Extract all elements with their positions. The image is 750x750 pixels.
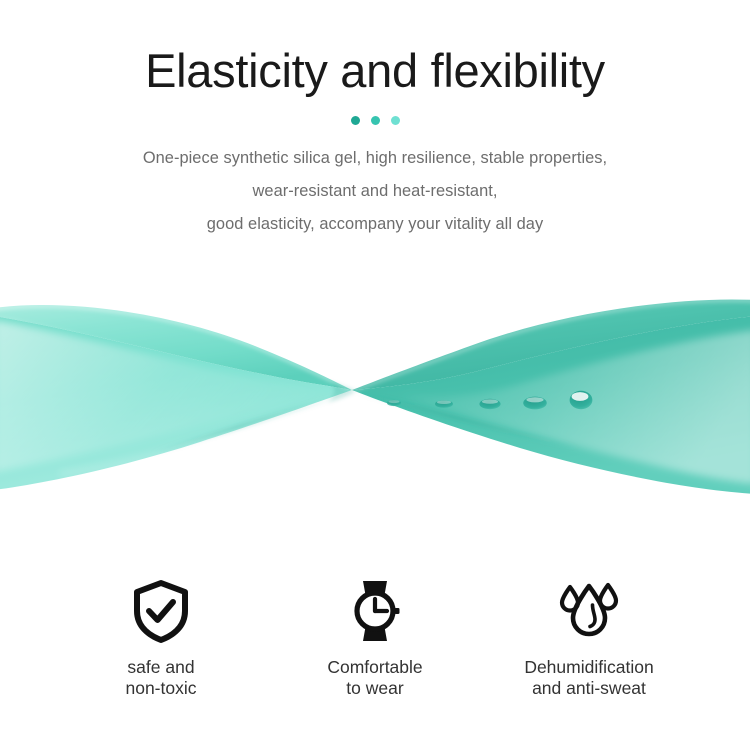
dot-2-icon [371,116,380,125]
wristwatch-icon [342,578,408,644]
adjustment-hole-3 [479,399,500,409]
feature-label-dehumidification: Dehumidification and anti-sweat [524,657,653,699]
subcopy-line-2: wear-resistant and heat-resistant, [0,175,750,208]
page-title: Elasticity and flexibility [0,0,750,97]
adjustment-hole-1 [387,400,401,406]
subcopy-line-3: good elasticity, accompany your vitality… [0,208,750,241]
subcopy: One-piece synthetic silica gel, high res… [0,142,750,241]
feature-label-safe-non-toxic: safe and non-toxic [125,657,196,699]
adjustment-hole-4 [523,397,547,410]
feature-label-comfortable-to-wear: Comfortable to wear [327,657,422,699]
shield-check-icon [128,578,194,644]
feature-row: safe and non-toxic [0,578,750,699]
header-block: Elasticity and flexibility One-piece syn… [0,0,750,241]
decorative-dots [0,116,750,125]
dot-1-icon [351,116,360,125]
feature-safe-non-toxic: safe and non-toxic [54,578,268,699]
feature-comfortable-to-wear: Comfortable to wear [268,578,482,699]
adjustment-hole-2 [435,400,453,408]
feature-dehumidification: Dehumidification and anti-sweat [482,578,696,699]
product-photo [0,268,750,528]
adjustment-hole-5 [570,391,593,409]
subcopy-line-1: One-piece synthetic silica gel, high res… [0,142,750,175]
product-feature-page: Elasticity and flexibility One-piece syn… [0,0,750,750]
water-droplets-icon [553,578,625,644]
dot-3-icon [391,116,400,125]
